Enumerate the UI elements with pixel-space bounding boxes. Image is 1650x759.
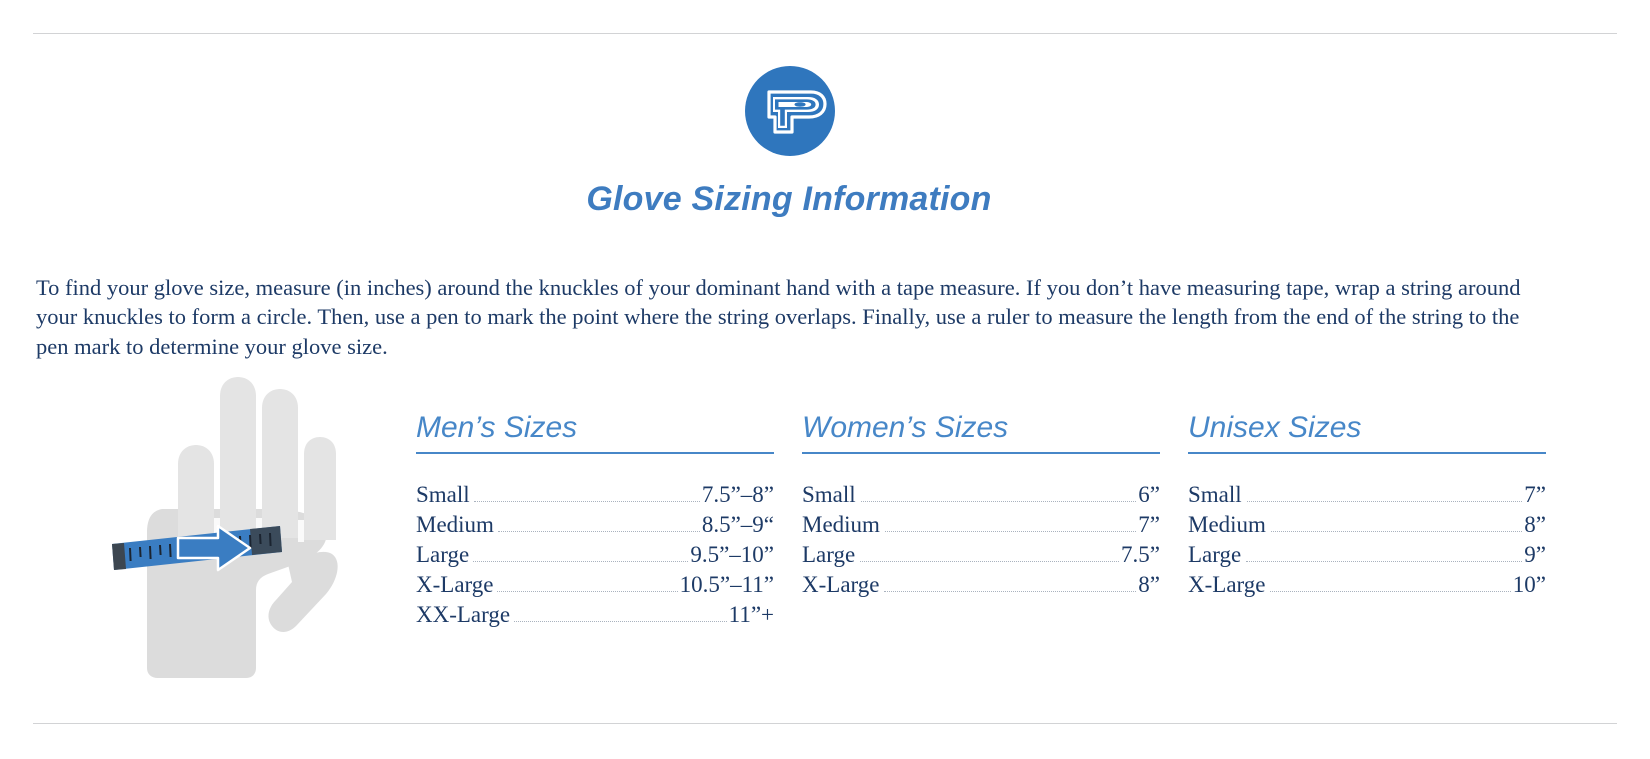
size-table-womens: Women’s Sizes Small 6” Medium 7” Large 7… bbox=[802, 410, 1160, 630]
size-tables: Men’s Sizes Small 7.5”–8” Medium 8.5”–9“… bbox=[416, 410, 1546, 630]
size-value: 8” bbox=[1524, 510, 1546, 540]
size-value: 8.5”–9“ bbox=[702, 510, 774, 540]
size-label: Small bbox=[1188, 480, 1242, 510]
hand-with-measuring-tape-illustration bbox=[100, 368, 350, 680]
table-row: Medium 8” bbox=[1188, 510, 1546, 540]
table-row: Medium 7” bbox=[802, 510, 1160, 540]
table-row: Small 7” bbox=[1188, 480, 1546, 510]
size-label: Small bbox=[416, 480, 470, 510]
size-value: 7” bbox=[1524, 480, 1546, 510]
leader-dots bbox=[497, 591, 677, 592]
size-label: Medium bbox=[802, 510, 880, 540]
top-divider bbox=[33, 33, 1617, 34]
p-logo bbox=[745, 66, 835, 156]
intro-paragraph: To find your glove size, measure (in inc… bbox=[36, 273, 1542, 362]
size-table-mens: Men’s Sizes Small 7.5”–8” Medium 8.5”–9“… bbox=[416, 410, 774, 630]
heading-rule-mens bbox=[416, 452, 774, 454]
size-value: 8” bbox=[1138, 570, 1160, 600]
size-value: 7.5”–8” bbox=[702, 480, 774, 510]
table-heading-mens: Men’s Sizes bbox=[416, 410, 774, 446]
leader-dots bbox=[473, 561, 688, 562]
leader-dots bbox=[860, 561, 1119, 562]
leader-dots bbox=[884, 591, 1136, 592]
leader-dots bbox=[474, 501, 700, 502]
hand-shape bbox=[147, 377, 338, 678]
size-label: X-Large bbox=[1188, 570, 1265, 600]
size-value: 6” bbox=[1138, 480, 1160, 510]
size-label: Small bbox=[802, 480, 856, 510]
table-row: X-Large 10.5”–11” bbox=[416, 570, 774, 600]
size-label: Large bbox=[416, 540, 469, 570]
table-row: Large 9” bbox=[1188, 540, 1546, 570]
table-row: Small 7.5”–8” bbox=[416, 480, 774, 510]
table-row: X-Large 10” bbox=[1188, 570, 1546, 600]
size-label: Large bbox=[1188, 540, 1241, 570]
leader-dots bbox=[514, 621, 727, 622]
leader-dots bbox=[1270, 591, 1510, 592]
size-label: Large bbox=[802, 540, 855, 570]
bottom-divider bbox=[33, 723, 1617, 724]
size-value: 11”+ bbox=[729, 600, 774, 630]
leader-dots bbox=[861, 501, 1137, 502]
size-table-unisex: Unisex Sizes Small 7” Medium 8” Large 9”… bbox=[1188, 410, 1546, 630]
heading-rule-womens bbox=[802, 452, 1160, 454]
table-heading-unisex: Unisex Sizes bbox=[1188, 410, 1546, 446]
leader-dots bbox=[1247, 501, 1523, 502]
table-heading-womens: Women’s Sizes bbox=[802, 410, 1160, 446]
leader-dots bbox=[1271, 531, 1522, 532]
table-row: Medium 8.5”–9“ bbox=[416, 510, 774, 540]
size-value: 7.5” bbox=[1121, 540, 1160, 570]
size-value: 9” bbox=[1524, 540, 1546, 570]
size-value: 10.5”–11” bbox=[680, 570, 774, 600]
heading-rule-unisex bbox=[1188, 452, 1546, 454]
leader-dots bbox=[885, 531, 1136, 532]
size-value: 9.5”–10” bbox=[690, 540, 774, 570]
size-label: Medium bbox=[416, 510, 494, 540]
glove-sizing-page: Glove Sizing Information To find your gl… bbox=[0, 0, 1650, 759]
size-label: XX-Large bbox=[416, 600, 510, 630]
table-row: Large 7.5” bbox=[802, 540, 1160, 570]
size-label: X-Large bbox=[416, 570, 493, 600]
size-value: 7” bbox=[1138, 510, 1160, 540]
size-value: 10” bbox=[1513, 570, 1546, 600]
leader-dots bbox=[1246, 561, 1522, 562]
table-row: Small 6” bbox=[802, 480, 1160, 510]
leader-dots bbox=[498, 531, 700, 532]
table-row: Large 9.5”–10” bbox=[416, 540, 774, 570]
table-row: X-Large 8” bbox=[802, 570, 1160, 600]
size-label: X-Large bbox=[802, 570, 879, 600]
page-title: Glove Sizing Information bbox=[0, 180, 1578, 219]
table-row: XX-Large 11”+ bbox=[416, 600, 774, 630]
size-label: Medium bbox=[1188, 510, 1266, 540]
